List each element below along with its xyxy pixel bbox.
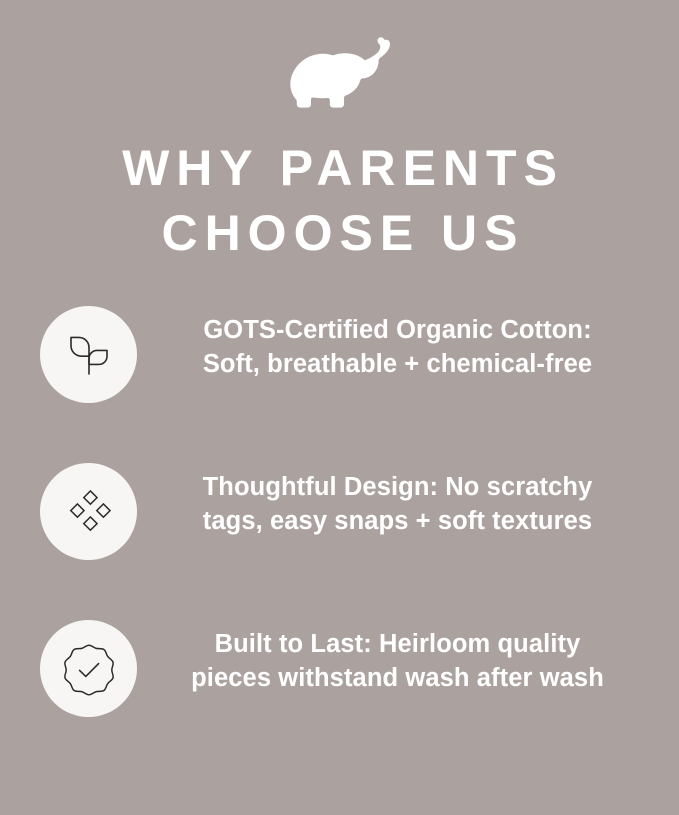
feature-text-line-2: Soft, breathable + chemical-free bbox=[155, 347, 640, 381]
feature-text-line-2: tags, easy snaps + soft textures bbox=[155, 504, 640, 538]
scalloped-badge-check-icon bbox=[62, 642, 116, 696]
feature-text-line-1: Built to Last: Heirloom quality bbox=[155, 627, 640, 661]
four-diamonds-icon bbox=[66, 489, 112, 535]
feature-text: Built to Last: Heirloom quality pieces w… bbox=[155, 627, 640, 695]
feature-icon-badge bbox=[40, 620, 137, 717]
page-title-line-1: WHY PARENTS bbox=[0, 136, 679, 201]
feature-list: GOTS-Certified Organic Cotton: Soft, bre… bbox=[0, 306, 679, 777]
feature-text-line-1: Thoughtful Design: No scratchy bbox=[155, 470, 640, 504]
feature-item-thoughtful-design: Thoughtful Design: No scratchy tags, eas… bbox=[0, 463, 679, 620]
feature-icon-badge bbox=[40, 463, 137, 560]
feature-text-line-2: pieces withstand wash after wash bbox=[155, 661, 640, 695]
feature-text-line-1: GOTS-Certified Organic Cotton: bbox=[155, 313, 640, 347]
feature-icon-badge bbox=[40, 306, 137, 403]
page-title: WHY PARENTS CHOOSE US bbox=[0, 136, 679, 266]
sprout-leaf-icon bbox=[65, 331, 113, 379]
feature-item-built-to-last: Built to Last: Heirloom quality pieces w… bbox=[0, 620, 679, 777]
page-title-line-2: CHOOSE US bbox=[0, 201, 679, 266]
elephant-logo-icon bbox=[288, 36, 392, 108]
feature-item-organic-cotton: GOTS-Certified Organic Cotton: Soft, bre… bbox=[0, 306, 679, 463]
feature-text: GOTS-Certified Organic Cotton: Soft, bre… bbox=[155, 313, 640, 381]
why-parents-choose-us-poster: WHY PARENTS CHOOSE US GOTS-Certified Org… bbox=[0, 0, 679, 815]
feature-text: Thoughtful Design: No scratchy tags, eas… bbox=[155, 470, 640, 538]
brand-logo bbox=[0, 36, 679, 108]
